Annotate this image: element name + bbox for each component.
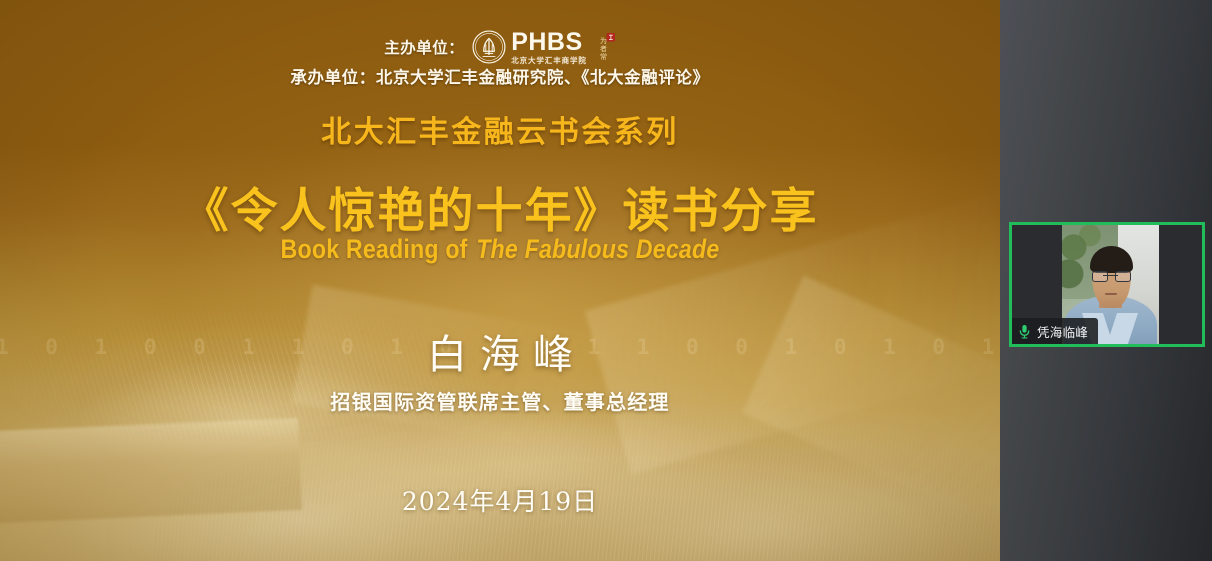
shared-screen-slide: 1 0 1 0 0 1 1 0 1 0 0 0 1 1 0 0 1 0 1 0 … — [0, 0, 1000, 561]
participant-tile[interactable]: 凭海临峰 — [1009, 222, 1205, 347]
speaker-name: 白海峰 — [0, 322, 1000, 380]
video-person-glasses — [1092, 271, 1131, 282]
red-seal-stamp-icon: 为 者 常 — [594, 32, 616, 62]
participant-name: 凭海临峰 — [1037, 322, 1088, 341]
glasses-lens-left — [1092, 271, 1108, 282]
video-person-mouth — [1105, 293, 1118, 295]
series-title: 北大汇丰金融云书会系列 — [0, 107, 1000, 151]
slide-content: 主办单位： PHBS 北京大学汇丰商学院 — [0, 0, 1000, 561]
participant-video-panel: 凭海临峰 — [1000, 0, 1212, 561]
svg-text:者: 者 — [600, 45, 607, 53]
phbs-wordmark-en: PHBS — [511, 30, 582, 55]
participant-name-bar: 凭海临峰 — [1012, 318, 1098, 344]
pku-seal-icon — [472, 30, 506, 64]
slide-main-title: 《令人惊艳的十年》读书分享 — [0, 172, 1000, 241]
microphone-icon[interactable] — [1018, 324, 1031, 339]
subtitle-book-title: The Fabulous Decade — [476, 234, 719, 264]
glasses-lens-right — [1115, 271, 1131, 282]
phbs-logo: PHBS 北京大学汇丰商学院 为 者 常 — [472, 30, 616, 65]
svg-text:常: 常 — [600, 52, 607, 61]
organizer-label: 主办单位： — [384, 36, 464, 58]
event-date: 2024年4月19日 — [0, 482, 1000, 518]
co-organizer-line: 承办单位：北京大学汇丰金融研究院、《北大金融评论》 — [0, 64, 1000, 88]
subtitle-prefix: Book Reading of — [281, 234, 468, 264]
organizer-row: 主办单位： PHBS 北京大学汇丰商学院 — [0, 30, 1000, 65]
phbs-wordmark: PHBS 北京大学汇丰商学院 — [511, 30, 587, 65]
svg-text:为: 为 — [600, 36, 607, 45]
slide-subtitle-english: Book Reading ofThe Fabulous Decade — [70, 234, 930, 265]
glasses-bridge — [1103, 275, 1119, 276]
zoom-meeting-screen: 1 0 1 0 0 1 1 0 1 0 0 0 1 1 0 0 1 0 1 0 … — [0, 0, 1212, 561]
speaker-title: 招银国际资管联席主管、董事总经理 — [0, 386, 1000, 415]
